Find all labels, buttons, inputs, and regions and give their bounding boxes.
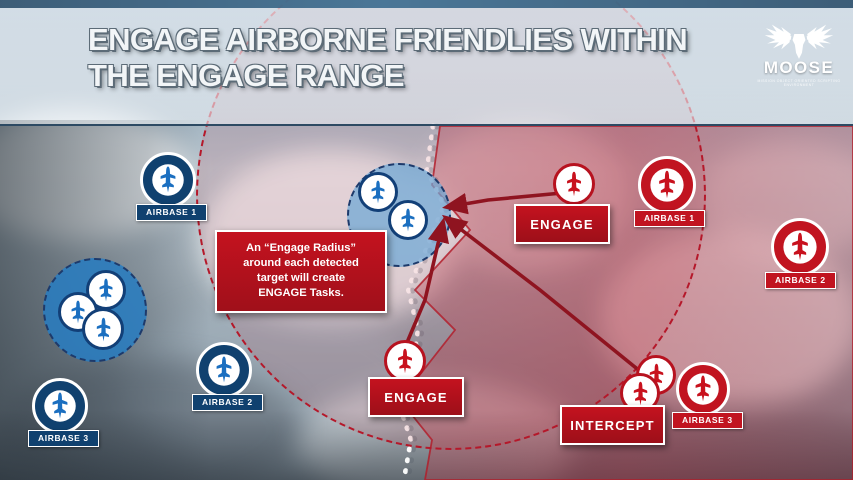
red-aircraft-icon bbox=[384, 340, 426, 382]
jet-top-icon bbox=[150, 162, 186, 198]
airbase-label: AIRBASE 2 bbox=[192, 394, 263, 411]
jet-top-icon bbox=[365, 179, 391, 205]
airbase-disc bbox=[32, 378, 88, 434]
callout-line-2: around each detected bbox=[223, 256, 379, 271]
blue-aircraft-icon bbox=[388, 200, 428, 240]
task-engage-north[interactable]: ENGAGE bbox=[514, 204, 610, 244]
callout-line-3: target will create bbox=[223, 271, 379, 286]
jet-top-icon bbox=[560, 170, 588, 198]
red-aircraft-icon bbox=[553, 163, 595, 205]
moose-logo-subtitle: MISSION OBJECT ORIENTED SCRIPTING ENVIRO… bbox=[755, 79, 843, 87]
title-line-2: THE ENGAGE RANGE bbox=[88, 58, 748, 94]
jet-top-icon bbox=[391, 347, 419, 375]
airbase-label: AIRBASE 3 bbox=[672, 412, 743, 429]
airbase-disc bbox=[196, 342, 252, 398]
airbase-disc bbox=[676, 362, 730, 416]
page-title: ENGAGE AIRBORNE FRIENDLIES WITHIN THE EN… bbox=[88, 22, 748, 94]
jet-top-icon bbox=[42, 388, 78, 424]
jet-top-icon bbox=[781, 228, 819, 266]
jet-top-icon bbox=[93, 277, 119, 303]
airbase-disc bbox=[771, 218, 829, 276]
moose-logo-text: MOOSE bbox=[755, 58, 843, 78]
airbase-label: AIRBASE 1 bbox=[136, 204, 207, 221]
task-engage-south[interactable]: ENGAGE bbox=[368, 377, 464, 417]
moose-antler-icon bbox=[763, 14, 835, 60]
airbase-disc bbox=[140, 152, 196, 208]
callout-line-1: An “Engage Radius” bbox=[223, 241, 379, 256]
header-top-accent bbox=[0, 0, 853, 8]
airbase-label: AIRBASE 2 bbox=[765, 272, 836, 289]
airbase-label: AIRBASE 3 bbox=[28, 430, 99, 447]
jet-top-icon bbox=[685, 371, 721, 407]
moose-logo[interactable]: MOOSE MISSION OBJECT ORIENTED SCRIPTING … bbox=[755, 14, 843, 92]
task-intercept[interactable]: INTERCEPT bbox=[560, 405, 665, 445]
infographic-slide: AIRBASE 1 AIRBASE 2 AIRBASE 3 AIRBASE bbox=[0, 0, 853, 480]
jet-top-icon bbox=[90, 316, 117, 343]
title-line-1: ENGAGE AIRBORNE FRIENDLIES WITHIN bbox=[88, 22, 748, 58]
airbase-label: AIRBASE 1 bbox=[634, 210, 705, 227]
jet-top-icon bbox=[648, 166, 686, 204]
callout-engage-radius: An “Engage Radius” around each detected … bbox=[215, 230, 387, 313]
blue-aircraft-icon bbox=[82, 308, 124, 350]
jet-top-icon bbox=[206, 352, 242, 388]
callout-line-4: ENGAGE Tasks. bbox=[223, 286, 379, 301]
jet-top-icon bbox=[395, 207, 421, 233]
airbase-disc bbox=[638, 156, 696, 214]
jet-top-icon bbox=[627, 380, 654, 407]
